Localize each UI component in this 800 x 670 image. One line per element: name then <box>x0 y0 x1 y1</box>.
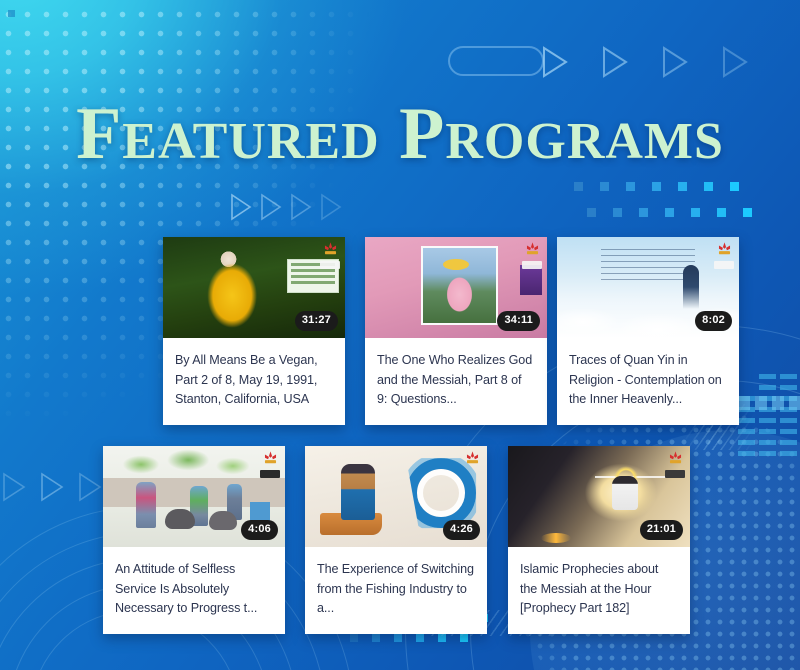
duration-badge: 21:01 <box>640 520 683 540</box>
small-squares-top-left <box>0 0 130 100</box>
program-thumbnail[interactable]: 4:06 <box>103 446 285 547</box>
thumbnail-sub-badge <box>320 261 340 269</box>
lotus-logo-icon <box>523 240 542 259</box>
program-thumbnail[interactable]: 21:01 <box>508 446 690 547</box>
program-card[interactable]: 34:11 The One Who Realizes God and the M… <box>365 237 547 425</box>
lotus-logo-icon <box>463 449 482 468</box>
thumbnail-sub-badge <box>522 261 542 269</box>
program-title: Islamic Prophecies about the Messiah at … <box>508 547 690 634</box>
triangle-row-top-right <box>542 44 782 80</box>
program-title: Traces of Quan Yin in Religion - Contemp… <box>557 338 739 425</box>
program-thumbnail[interactable]: 4:26 <box>305 446 487 547</box>
program-card[interactable]: 4:06 An Attitude of Selfless Service Is … <box>103 446 285 634</box>
program-title: The Experience of Switching from the Fis… <box>305 547 487 634</box>
featured-programs-banner: Featured Programs 31:27 By All Means Be … <box>0 0 800 670</box>
lotus-logo-icon <box>261 449 280 468</box>
lotus-logo-icon <box>715 240 734 259</box>
program-title: By All Means Be a Vegan, Part 2 of 8, Ma… <box>163 338 345 425</box>
triangle-row-mid-left <box>230 192 350 222</box>
program-thumbnail[interactable]: 34:11 <box>365 237 547 338</box>
program-title: The One Who Realizes God and the Messiah… <box>365 338 547 425</box>
duration-badge: 34:11 <box>497 311 540 331</box>
program-card[interactable]: 8:02 Traces of Quan Yin in Religion - Co… <box>557 237 739 425</box>
program-card[interactable]: 31:27 By All Means Be a Vegan, Part 2 of… <box>163 237 345 425</box>
duration-badge: 8:02 <box>695 311 732 331</box>
duration-badge: 4:06 <box>241 520 278 540</box>
square-grid-top-right <box>574 182 774 228</box>
lotus-logo-icon <box>666 449 685 468</box>
program-card[interactable]: 4:26 The Experience of Switching from th… <box>305 446 487 634</box>
pill-outline-shape <box>448 46 544 76</box>
duration-badge: 31:27 <box>295 311 338 331</box>
lotus-logo-icon <box>321 240 340 259</box>
thumbnail-sub-badge <box>665 470 685 478</box>
program-card[interactable]: 21:01 Islamic Prophecies about the Messi… <box>508 446 690 634</box>
thumbnail-sub-badge <box>260 470 280 478</box>
program-title: An Attitude of Selfless Service Is Absol… <box>103 547 285 634</box>
page-title: Featured Programs <box>0 92 800 177</box>
program-thumbnail[interactable]: 31:27 <box>163 237 345 338</box>
triangle-row-bottom-left <box>2 470 112 504</box>
program-thumbnail[interactable]: 8:02 <box>557 237 739 338</box>
duration-badge: 4:26 <box>443 520 480 540</box>
equalizer-bars-right <box>736 366 800 478</box>
thumbnail-sub-badge <box>714 261 734 269</box>
